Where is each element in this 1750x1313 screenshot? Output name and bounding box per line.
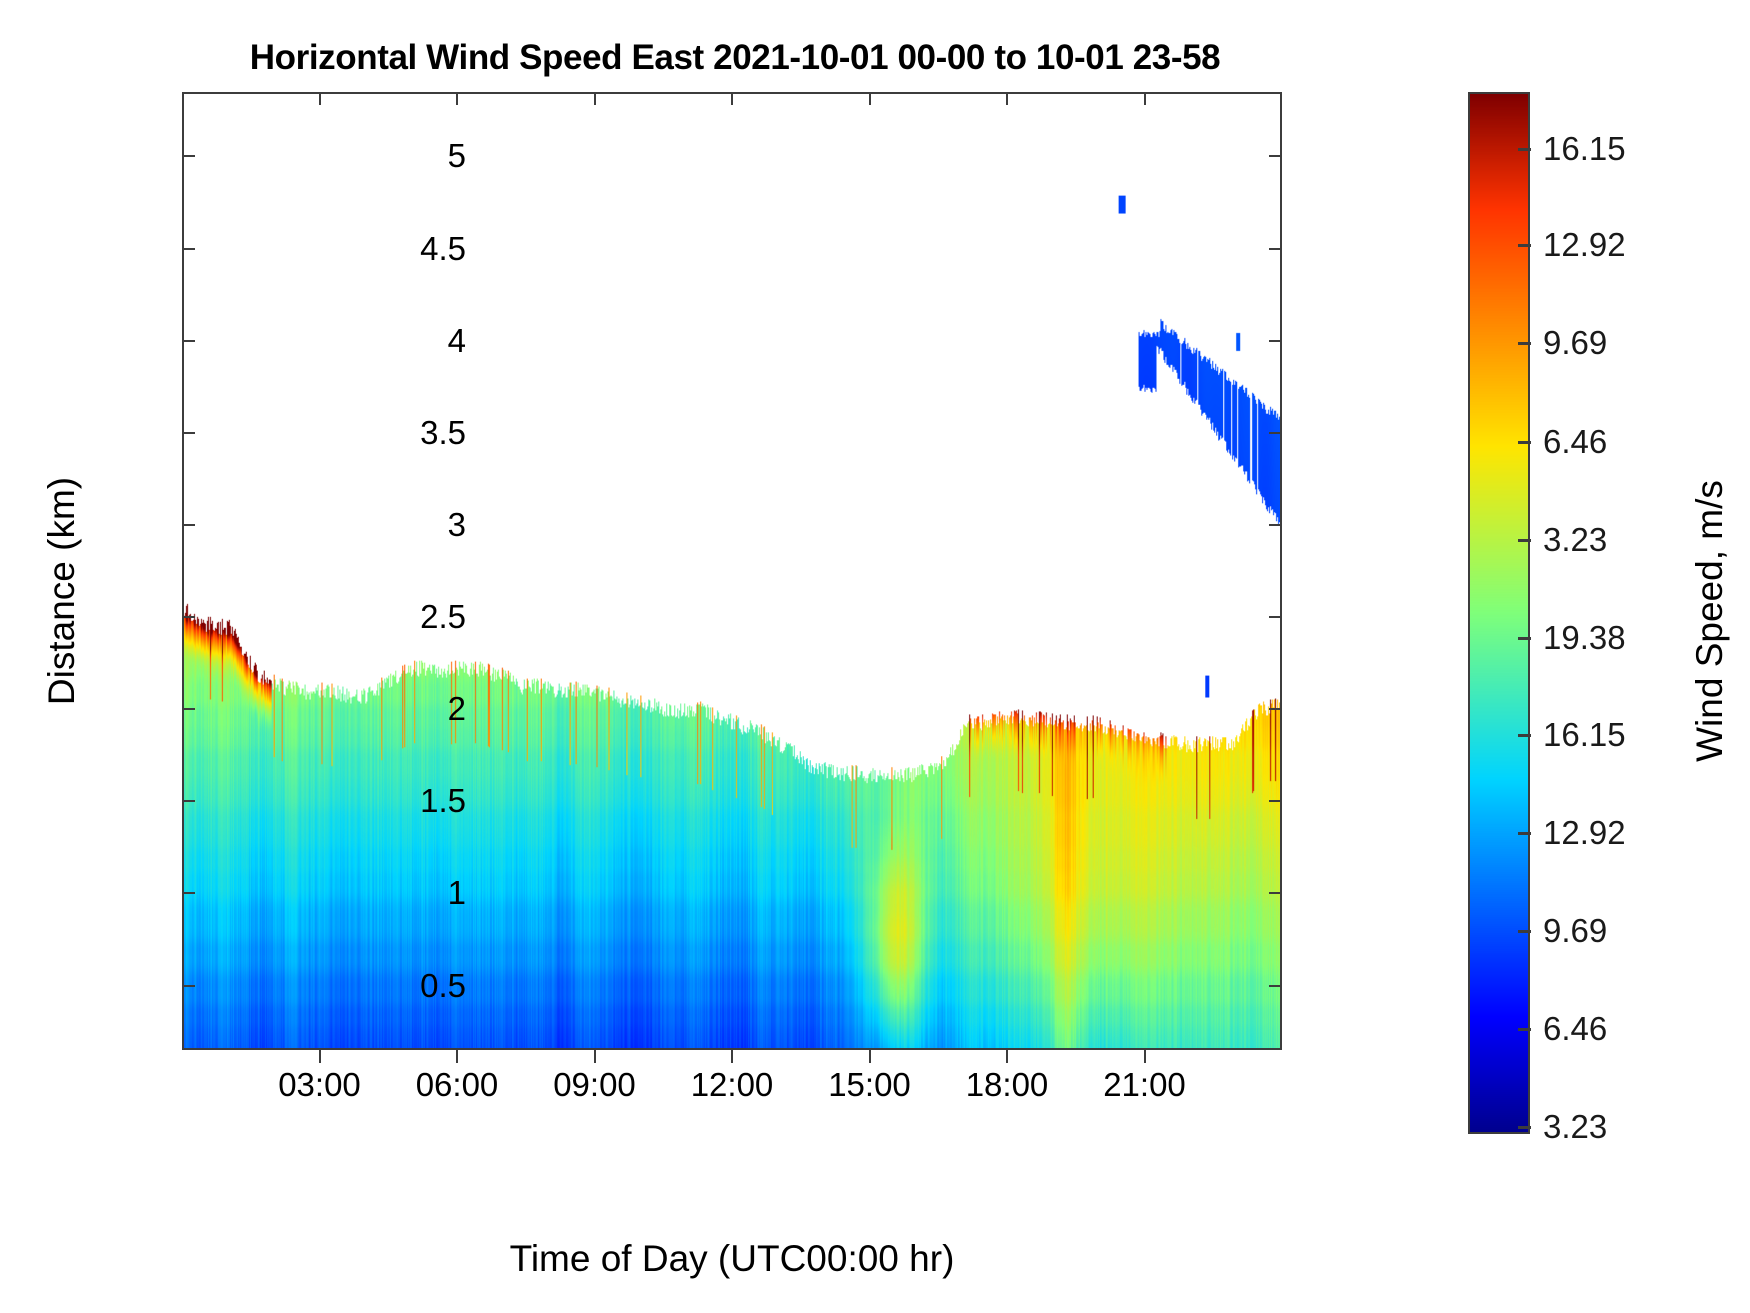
y-tick-mark — [182, 616, 195, 618]
plot-axes — [182, 92, 1282, 1050]
y-tick-label: 4.5 — [420, 230, 466, 268]
x-tick-label: 18:00 — [966, 1066, 1049, 1104]
y-tick-mark — [182, 155, 195, 157]
y-tick-mark — [1269, 892, 1282, 894]
y-tick-mark — [1269, 708, 1282, 710]
x-tick-mark — [594, 92, 596, 105]
colorbar-tick-label: 3.23 — [1543, 521, 1607, 559]
x-axis-label: Time of Day (UTC00:00 hr) — [182, 1238, 1282, 1280]
x-tick-label: 03:00 — [278, 1066, 361, 1104]
colorbar-tick-mark — [1518, 832, 1531, 835]
page-title: Horizontal Wind Speed East 2021-10-01 00… — [180, 38, 1290, 78]
x-tick-label: 21:00 — [1103, 1066, 1186, 1104]
colorbar-tick-label: 3.23 — [1543, 1108, 1607, 1146]
x-tick-mark — [869, 1050, 871, 1063]
y-tick-label: 0.5 — [420, 967, 466, 1005]
y-tick-label: 1 — [448, 874, 466, 912]
y-tick-label: 2.5 — [420, 598, 466, 636]
colorbar-tick-label: 16.15 — [1543, 130, 1626, 168]
y-tick-label: 3 — [448, 506, 466, 544]
colorbar-tick-label: 12.92 — [1543, 226, 1626, 264]
colorbar-tick-mark — [1518, 1126, 1531, 1129]
colorbar-tick-label: 9.69 — [1543, 324, 1607, 362]
colorbar-tick-mark — [1518, 930, 1531, 933]
x-tick-mark — [456, 92, 458, 105]
y-tick-mark — [182, 708, 195, 710]
colorbar-tick-mark — [1518, 441, 1531, 444]
x-tick-label: 06:00 — [416, 1066, 499, 1104]
x-tick-mark — [869, 92, 871, 105]
colorbar-tick-mark — [1518, 539, 1531, 542]
x-tick-mark — [1006, 92, 1008, 105]
y-tick-label: 3.5 — [420, 414, 466, 452]
colorbar-tick-label: 16.15 — [1543, 716, 1626, 754]
y-tick-mark — [1269, 340, 1282, 342]
y-tick-mark — [182, 892, 195, 894]
x-tick-label: 15:00 — [828, 1066, 911, 1104]
y-tick-mark — [1269, 800, 1282, 802]
colorbar-tick-mark — [1518, 1028, 1531, 1031]
x-tick-mark — [456, 1050, 458, 1063]
colorbar-tick-mark — [1518, 342, 1531, 345]
y-tick-mark — [182, 800, 195, 802]
y-tick-label: 1.5 — [420, 782, 466, 820]
x-tick-label: 09:00 — [553, 1066, 636, 1104]
y-tick-mark — [1269, 524, 1282, 526]
y-tick-mark — [182, 524, 195, 526]
heatmap-canvas-container — [184, 94, 1280, 1048]
y-tick-mark — [1269, 616, 1282, 618]
x-tick-mark — [1006, 1050, 1008, 1063]
x-tick-mark — [1144, 1050, 1146, 1063]
colorbar-tick-label: 6.46 — [1543, 423, 1607, 461]
x-tick-mark — [319, 92, 321, 105]
y-tick-mark — [1269, 248, 1282, 250]
y-tick-label: 4 — [448, 322, 466, 360]
y-tick-mark — [1269, 432, 1282, 434]
y-tick-mark — [182, 432, 195, 434]
y-tick-mark — [1269, 985, 1282, 987]
x-tick-mark — [731, 1050, 733, 1063]
colorbar — [1468, 92, 1530, 1134]
y-tick-mark — [182, 340, 195, 342]
x-tick-mark — [319, 1050, 321, 1063]
heatmap-canvas — [184, 94, 1280, 1048]
x-tick-mark — [594, 1050, 596, 1063]
colorbar-tick-label: 9.69 — [1543, 912, 1607, 950]
colorbar-tick-label: 12.92 — [1543, 814, 1626, 852]
y-tick-label: 2 — [448, 690, 466, 728]
y-tick-mark — [1269, 155, 1282, 157]
colorbar-tick-mark — [1518, 734, 1531, 737]
y-tick-mark — [182, 248, 195, 250]
colorbar-gradient — [1470, 94, 1528, 1132]
y-tick-label: 5 — [448, 137, 466, 175]
colorbar-tick-mark — [1518, 148, 1531, 151]
colorbar-tick-mark — [1518, 637, 1531, 640]
x-tick-mark — [731, 92, 733, 105]
x-tick-mark — [1144, 92, 1146, 105]
y-axis-label: Distance (km) — [41, 361, 83, 821]
colorbar-tick-mark — [1518, 244, 1531, 247]
y-tick-mark — [182, 985, 195, 987]
colorbar-tick-label: 19.38 — [1543, 619, 1626, 657]
colorbar-label: Wind Speed, m/s — [1689, 411, 1731, 831]
x-tick-label: 12:00 — [691, 1066, 774, 1104]
colorbar-tick-label: 6.46 — [1543, 1010, 1607, 1048]
